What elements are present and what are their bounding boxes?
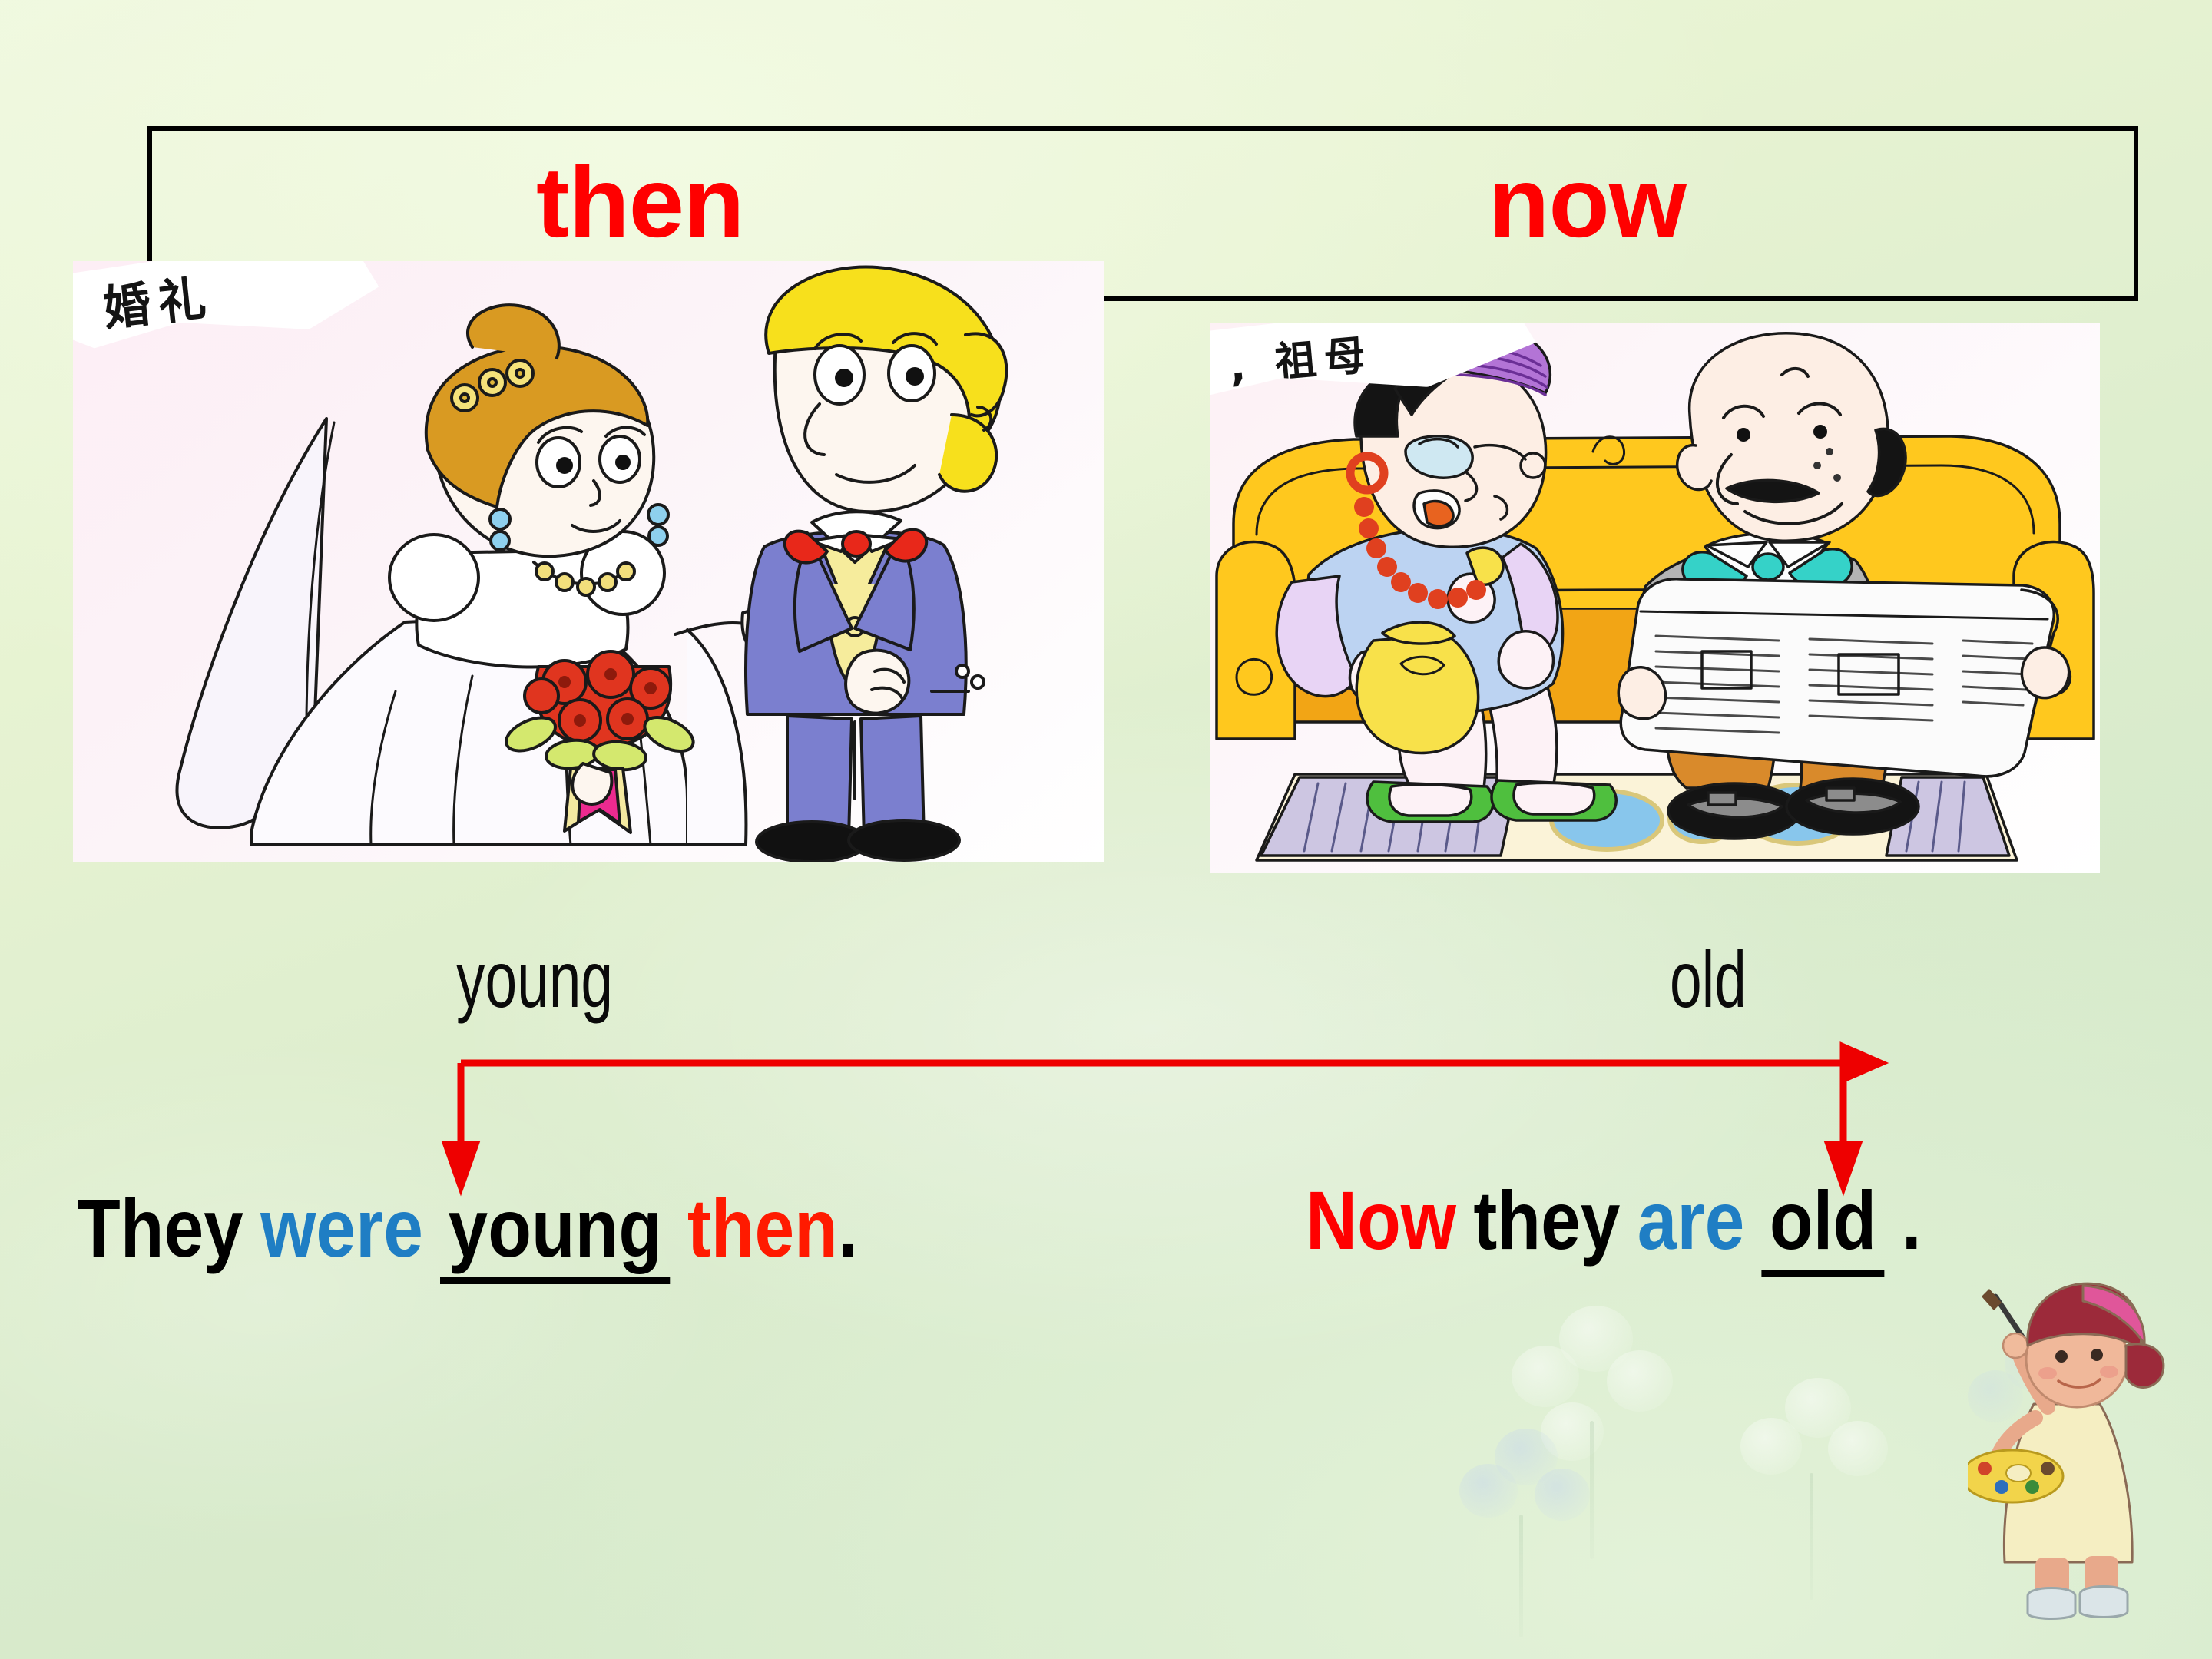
- label-old: old: [1670, 940, 1747, 1020]
- sentence-then: Theywereyoungthen.: [77, 1187, 858, 1270]
- sentence-then-word-then: then: [687, 1181, 838, 1274]
- flower-watermark: [1505, 1306, 1705, 1559]
- flower-watermark: [1459, 1429, 1628, 1644]
- flower-watermark: [1736, 1375, 1912, 1605]
- photo-then-wedding: 婚礼: [73, 261, 1104, 862]
- slide-canvas: then now: [0, 0, 2212, 1659]
- sentence-now-blank-old: old: [1762, 1174, 1885, 1277]
- sentence-now-period: .: [1902, 1174, 1922, 1267]
- sentence-now: Nowtheyareold.: [1306, 1179, 1922, 1262]
- sentence-then-word-they: They: [77, 1181, 243, 1274]
- girl-painter-clipart: [1968, 1275, 2198, 1636]
- photo-now-elderly: , 祖母: [1210, 323, 2100, 873]
- label-young: young: [456, 940, 613, 1020]
- sentence-now-word-now: Now: [1306, 1174, 1456, 1267]
- header-then-label: then: [536, 152, 743, 252]
- sentence-then-word-were: were: [260, 1181, 423, 1274]
- sentence-now-word-are: are: [1637, 1174, 1744, 1267]
- sentence-then-period: .: [838, 1181, 858, 1274]
- header-now-label: now: [1488, 152, 1686, 252]
- elderly-couple-illustration: [1210, 323, 2100, 873]
- wedding-couple-illustration: [73, 261, 1104, 862]
- sentence-then-blank-young: young: [440, 1181, 670, 1284]
- sentence-now-word-they: they: [1473, 1174, 1620, 1267]
